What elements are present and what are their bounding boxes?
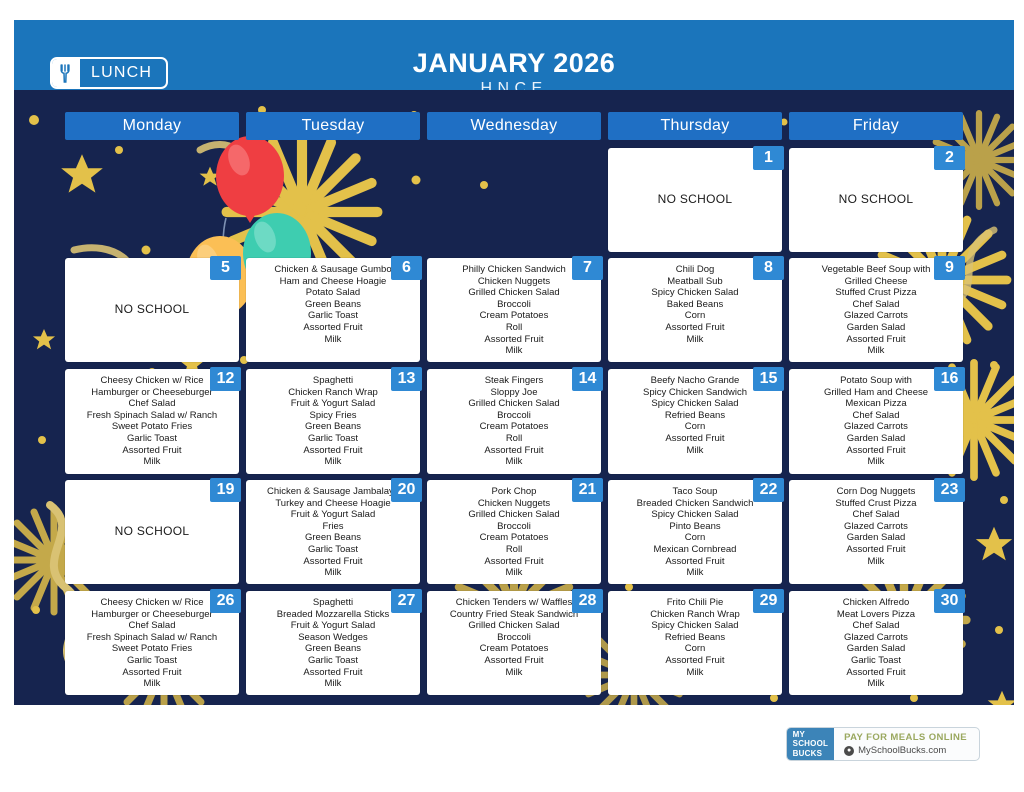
menu-item: Spicy Chicken Salad [611, 509, 779, 521]
menu-item: Garlic Toast [249, 310, 417, 322]
day-number: 30 [934, 589, 965, 613]
day-number: 8 [753, 256, 784, 280]
menu-item: Milk [68, 678, 236, 690]
menu-item: Fries [249, 521, 417, 533]
menu-item: Garlic Toast [792, 655, 960, 667]
calendar-day-cell[interactable]: 12Cheesy Chicken w/ RiceHamburger or Che… [65, 369, 239, 474]
day-number: 9 [934, 256, 965, 280]
menu-item: Milk [611, 334, 779, 346]
day-number: 6 [391, 256, 422, 280]
pay-online-headline: PAY FOR MEALS ONLINE [844, 732, 967, 743]
menu-item: Spicy Chicken Salad [611, 398, 779, 410]
day-number: 19 [210, 478, 241, 502]
menu-item: Grilled Chicken Salad [430, 509, 598, 521]
menu-item: Assorted Fruit [792, 667, 960, 679]
menu-item: Chef Salad [68, 398, 236, 410]
msb-logo-line3: BUCKS [793, 749, 828, 759]
day-number: 28 [572, 589, 603, 613]
menu-item: Chef Salad [792, 620, 960, 632]
menu-item: Assorted Fruit [611, 655, 779, 667]
menu-item: Garlic Toast [249, 433, 417, 445]
day-number: 27 [391, 589, 422, 613]
day-number: 15 [753, 367, 784, 391]
menu-item: Mexican Pizza [792, 398, 960, 410]
menu-item: Milk [611, 567, 779, 579]
menu-item: Corn [611, 310, 779, 322]
day-header-row: Monday Tuesday Wednesday Thursday Friday [14, 112, 1014, 140]
menu-item: Milk [792, 456, 960, 468]
myschoolbucks-badge[interactable]: MY SCHOOL BUCKS PAY FOR MEALS ONLINE ● M… [786, 727, 980, 761]
menu-item: Milk [249, 567, 417, 579]
menu-item: Green Beans [249, 299, 417, 311]
menu-item: Roll [430, 433, 598, 445]
menu-item: Baked Beans [611, 299, 779, 311]
menu-item: Cream Potatoes [430, 643, 598, 655]
day-number: 12 [210, 367, 241, 391]
menu-item: Assorted Fruit [430, 556, 598, 568]
menu-item: Broccoli [430, 632, 598, 644]
menu-item: NO SCHOOL [658, 194, 733, 206]
day-header-wednesday: Wednesday [427, 112, 601, 140]
menu-item: Assorted Fruit [430, 655, 598, 667]
menu-item: Corn [611, 643, 779, 655]
menu-item: Fresh Spinach Salad w/ Ranch [68, 632, 236, 644]
calendar-day-cell[interactable]: 2NO SCHOOL [789, 148, 963, 252]
menu-item: Spicy Fries [249, 410, 417, 422]
menu-item: Garlic Toast [68, 655, 236, 667]
menu-item: Milk [249, 678, 417, 690]
menu-item: Garlic Toast [249, 544, 417, 556]
menu-item: Spicy Chicken Salad [611, 287, 779, 299]
calendar-day-cell[interactable]: 29Frito Chili PieChicken Ranch WrapSpicy… [608, 591, 782, 695]
msb-logo-line2: SCHOOL [793, 739, 828, 749]
day-number: 1 [753, 146, 784, 170]
menu-item: Glazed Carrots [792, 421, 960, 433]
menu-item: Assorted Fruit [792, 544, 960, 556]
day-number: 23 [934, 478, 965, 502]
calendar-day-cell[interactable]: 7Philly Chicken SandwichChicken NuggetsG… [427, 258, 601, 362]
menu-item: Chef Salad [792, 410, 960, 422]
menu-item: Assorted Fruit [792, 334, 960, 346]
menu-item: Broccoli [430, 521, 598, 533]
day-number: 7 [572, 256, 603, 280]
menu-item: Milk [792, 678, 960, 690]
menu-item: Green Beans [249, 643, 417, 655]
menu-item: Grilled Chicken Salad [430, 287, 598, 299]
menu-item: Milk [68, 456, 236, 468]
menu-item: Assorted Fruit [611, 322, 779, 334]
day-number: 21 [572, 478, 603, 502]
myschoolbucks-url-row[interactable]: ● MySchoolBucks.com [844, 745, 967, 756]
day-header-tuesday: Tuesday [246, 112, 420, 140]
day-number: 29 [753, 589, 784, 613]
calendar-day-cell[interactable]: 21Pork ChopChicken NuggetsGrilled Chicke… [427, 480, 601, 584]
menu-item: Garden Salad [792, 433, 960, 445]
menu-item: Sweet Potato Fries [68, 643, 236, 655]
menu-item: Cream Potatoes [430, 532, 598, 544]
menu-item: Garlic Toast [68, 433, 236, 445]
calendar-day-cell[interactable]: 23Corn Dog NuggetsStuffed Crust PizzaChe… [789, 480, 963, 584]
day-number: 5 [210, 256, 241, 280]
day-number: 2 [934, 146, 965, 170]
menu-item: Spicy Chicken Salad [611, 620, 779, 632]
menu-item: Cream Potatoes [430, 421, 598, 433]
calendar-day-cell[interactable]: 30Chicken AlfredoMeat Lovers PizzaChef S… [789, 591, 963, 695]
menu-item: Milk [249, 334, 417, 346]
calendar-day-cell[interactable]: 28Chicken Tenders w/ WafflesCountry Frie… [427, 591, 601, 695]
menu-item: Refried Beans [611, 410, 779, 422]
menu-item: Green Beans [249, 421, 417, 433]
menu-item: Mexican Cornbread [611, 544, 779, 556]
day-number: 22 [753, 478, 784, 502]
menu-item: Milk [430, 345, 598, 357]
menu-item: Refried Beans [611, 632, 779, 644]
menu-item: NO SCHOOL [115, 304, 190, 316]
day-header-thursday: Thursday [608, 112, 782, 140]
page-header: LUNCH JANUARY 2026 H.N.C.E. [14, 20, 1014, 90]
day-number: 20 [391, 478, 422, 502]
calendar-day-cell[interactable]: 8Chili DogMeatball SubSpicy Chicken Sala… [608, 258, 782, 362]
page-footer: MY SCHOOL BUCKS PAY FOR MEALS ONLINE ● M… [14, 705, 1014, 777]
menu-item: Assorted Fruit [68, 445, 236, 457]
menu-item: Assorted Fruit [430, 334, 598, 346]
page-title: JANUARY 2026 [14, 48, 1014, 79]
day-number: 14 [572, 367, 603, 391]
calendar-day-cell[interactable]: 9Vegetable Beef Soup withGrilled CheeseS… [789, 258, 963, 362]
menu-item: Season Wedges [249, 632, 417, 644]
day-header-monday: Monday [65, 112, 239, 140]
calendar-day-cell[interactable]: 27SpaghettiBreaded Mozzarella SticksFrui… [246, 591, 420, 695]
menu-item: Roll [430, 544, 598, 556]
menu-item: Assorted Fruit [249, 556, 417, 568]
menu-item: Milk [430, 456, 598, 468]
menu-item: Fruit & Yogurt Salad [249, 398, 417, 410]
calendar-day-cell[interactable]: 13SpaghettiChicken Ranch WrapFruit & Yog… [246, 369, 420, 474]
menu-item: Broccoli [430, 299, 598, 311]
day-header-friday: Friday [789, 112, 963, 140]
menu-item: Sweet Potato Fries [68, 421, 236, 433]
menu-item: Milk [430, 567, 598, 579]
menu-item: Glazed Carrots [792, 632, 960, 644]
myschoolbucks-text: PAY FOR MEALS ONLINE ● MySchoolBucks.com [834, 728, 979, 760]
calendar-day-cell[interactable]: 6Chicken & Sausage GumboHam and Cheese H… [246, 258, 420, 362]
menu-item: Garlic Toast [249, 655, 417, 667]
day-number: 26 [210, 589, 241, 613]
msb-logo-line1: MY [793, 730, 828, 740]
calendar-day-cell[interactable]: 22Taco SoupBreaded Chicken SandwichSpicy… [608, 480, 782, 584]
menu-item: Garden Salad [792, 532, 960, 544]
menu-item: Milk [611, 667, 779, 679]
menu-item: Garden Salad [792, 643, 960, 655]
menu-item: Broccoli [430, 410, 598, 422]
menu-item: Glazed Carrots [792, 521, 960, 533]
calendar-day-cell[interactable]: 20Chicken & Sausage JambalayaTurkey and … [246, 480, 420, 584]
menu-item: Fruit & Yogurt Salad [249, 620, 417, 632]
menu-item: Assorted Fruit [249, 667, 417, 679]
menu-item: Stuffed Crust Pizza [792, 287, 960, 299]
menu-item: Chef Salad [792, 299, 960, 311]
menu-item: Assorted Fruit [68, 667, 236, 679]
menu-item: Potato Salad [249, 287, 417, 299]
menu-item: NO SCHOOL [839, 194, 914, 206]
calendar-day-cell[interactable]: 16Potato Soup withGrilled Ham and Cheese… [789, 369, 963, 474]
menu-item: Corn [611, 532, 779, 544]
menu-item: Milk [249, 456, 417, 468]
menu-item: Grilled Chicken Salad [430, 398, 598, 410]
menu-item: Assorted Fruit [792, 445, 960, 457]
day-number: 16 [934, 367, 965, 391]
menu-item: Assorted Fruit [249, 322, 417, 334]
calendar-day-cell[interactable]: 14Steak FingersSloppy JoeGrilled Chicken… [427, 369, 601, 474]
menu-item: Garden Salad [792, 322, 960, 334]
calendar-day-cell[interactable]: 5NO SCHOOL [65, 258, 239, 362]
menu-item: Fresh Spinach Salad w/ Ranch [68, 410, 236, 422]
menu-item: Milk [792, 556, 960, 568]
calendar-body: Monday Tuesday Wednesday Thursday Friday… [14, 90, 1014, 705]
menu-item: Milk [611, 445, 779, 457]
day-number: 13 [391, 367, 422, 391]
menu-item: Corn [611, 421, 779, 433]
menu-item: Milk [792, 345, 960, 357]
menu-item: Grilled Chicken Salad [430, 620, 598, 632]
menu-item: Assorted Fruit [249, 445, 417, 457]
menu-item: Roll [430, 322, 598, 334]
myschoolbucks-logo: MY SCHOOL BUCKS [787, 728, 834, 760]
menu-item: Chef Salad [68, 620, 236, 632]
menu-item: Cream Potatoes [430, 310, 598, 322]
calendar-day-cell[interactable]: 15Beefy Nacho GrandeSpicy Chicken Sandwi… [608, 369, 782, 474]
menu-item: Milk [430, 667, 598, 679]
calendar-day-cell[interactable]: 1NO SCHOOL [608, 148, 782, 252]
calendar-day-cell[interactable]: 19NO SCHOOL [65, 480, 239, 584]
menu-item: NO SCHOOL [115, 526, 190, 538]
menu-item: Pinto Beans [611, 521, 779, 533]
myschoolbucks-url: MySchoolBucks.com [858, 745, 946, 756]
calendar-day-cell[interactable]: 26Cheesy Chicken w/ RiceHamburger or Che… [65, 591, 239, 695]
menu-item: Fruit & Yogurt Salad [249, 509, 417, 521]
balloon-red [216, 136, 284, 223]
menu-item: Assorted Fruit [611, 433, 779, 445]
globe-icon: ● [844, 746, 854, 756]
menu-item: Assorted Fruit [430, 445, 598, 457]
lunch-calendar-page: LUNCH JANUARY 2026 H.N.C.E. [0, 0, 1024, 792]
menu-item: Glazed Carrots [792, 310, 960, 322]
menu-item: Green Beans [249, 532, 417, 544]
menu-item: Chef Salad [792, 509, 960, 521]
menu-item: Assorted Fruit [611, 556, 779, 568]
